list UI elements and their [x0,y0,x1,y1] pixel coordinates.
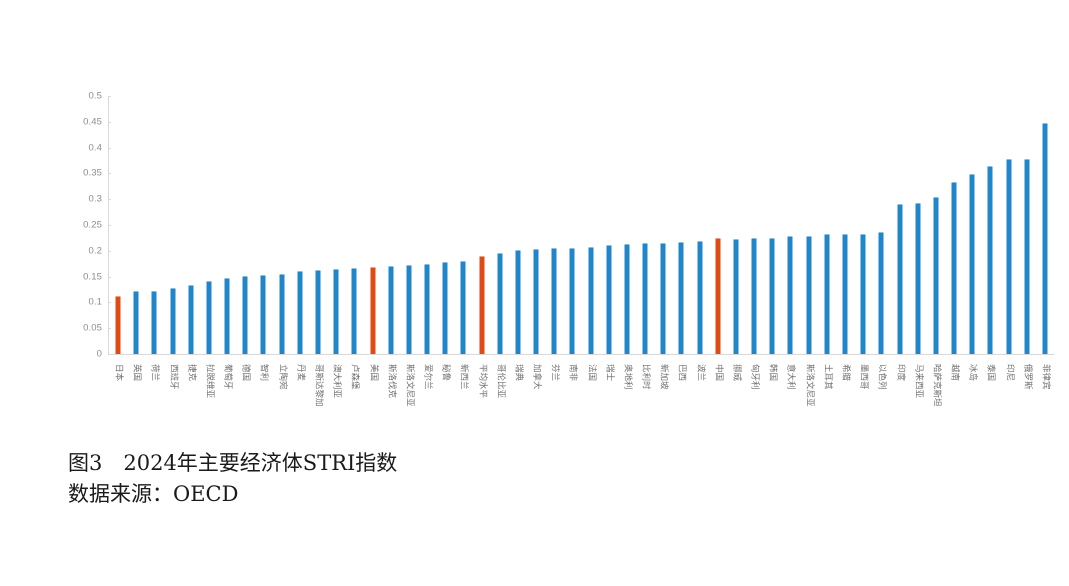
chart-bar[interactable] [406,265,411,354]
bar-slot [600,96,618,354]
chart-bar[interactable] [970,174,975,354]
chart-bar[interactable] [1042,123,1047,354]
chart-bar[interactable] [624,244,629,354]
bar-slot [763,96,781,354]
x-tick-label: 比利时 [641,364,650,390]
bar-slot [472,96,490,354]
chart-bar[interactable] [225,278,230,354]
bar-slot [363,96,381,354]
x-tick-label: 俄罗斯 [1022,364,1031,390]
chart-bar[interactable] [261,275,266,354]
x-tick-label: 英国 [132,364,141,381]
bar-slot [781,96,799,354]
chart-bar[interactable] [588,247,593,354]
x-tick-label: 以色列 [877,364,886,390]
bar-slot [327,96,345,354]
x-tick-label: 土耳其 [822,364,831,390]
chart-bar[interactable] [370,267,375,354]
chart-bar[interactable] [352,268,357,354]
x-tick-label: 挪威 [731,364,740,381]
y-tick-mark [108,277,111,278]
x-tick-label: 荷兰 [150,364,159,381]
chart-bar[interactable] [315,270,320,354]
chart-bar[interactable] [952,182,957,354]
x-tick-label: 匈牙利 [750,364,759,390]
chart-bar[interactable] [643,243,648,354]
bar-slot [382,96,400,354]
y-tick-mark [108,328,111,329]
x-tick-label: 哥斯达黎加 [313,364,322,407]
chart-bar[interactable] [279,274,284,354]
chart-bar[interactable] [152,291,157,354]
y-tick-label: 0.45 [68,117,102,127]
x-tick-label: 波兰 [695,364,704,381]
x-tick-label: 立陶宛 [277,364,286,390]
x-tick-label: 新加坡 [659,364,668,390]
x-tick-label: 芬兰 [550,364,559,381]
y-tick-mark [108,251,111,252]
x-tick-label: 印尼 [1004,364,1013,381]
bar-slot [654,96,672,354]
y-tick-label: 0 [68,349,102,359]
x-tick-label: 葡萄牙 [223,364,232,390]
chart-bar[interactable] [515,250,520,354]
chart-bar[interactable] [788,236,793,354]
chart-bar[interactable] [933,197,938,354]
chart-bar[interactable] [116,296,121,354]
x-tick-label: 瑞典 [513,364,522,381]
x-axis-category-labels: 日本英国荷兰西班牙捷克拉脱维亚葡萄牙德国智利立陶宛丹麦哥斯达黎加澳大利亚卢森堡美… [109,364,1054,444]
bar-slot [182,96,200,354]
bar-slot [582,96,600,354]
bar-slot [818,96,836,354]
x-tick-label: 瑞士 [604,364,613,381]
chart-bar[interactable] [770,238,775,354]
bar-slot [109,96,127,354]
bar-slot [273,96,291,354]
y-tick-mark [108,96,111,97]
y-axis: 0.50.450.40.350.30.250.20.150.10.050 [68,96,102,354]
chart-bar[interactable] [134,291,139,354]
x-tick-label: 卢森堡 [350,364,359,390]
bar-slot [527,96,545,354]
caption-source: 数据来源：OECD [68,479,968,510]
chart-bar[interactable] [497,253,502,354]
x-tick-label: 美国 [368,364,377,381]
chart-bar[interactable] [552,248,557,354]
bar-slot [400,96,418,354]
x-tick-label: 爱尔兰 [423,364,432,390]
chart-bar[interactable] [915,203,920,354]
x-tick-label: 越南 [950,364,959,381]
y-tick-label: 0.35 [68,169,102,179]
x-tick-label: 加拿大 [532,364,541,390]
x-tick-label: 冰岛 [968,364,977,381]
x-tick-label: 南非 [568,364,577,381]
bar-slot [709,96,727,354]
bar-slot [800,96,818,354]
bar-slot [890,96,908,354]
bar-slot [927,96,945,354]
chart-bar[interactable] [806,236,811,354]
x-tick-label: 法国 [586,364,595,381]
bar-slot [999,96,1017,354]
bar-slot [236,96,254,354]
bar-slot [454,96,472,354]
chart-bar[interactable] [479,256,484,354]
bar-slot [200,96,218,354]
chart-bar[interactable] [861,234,866,354]
x-tick-label: 希腊 [841,364,850,381]
chart-bar[interactable] [334,269,339,354]
x-tick-label: 捷克 [186,364,195,381]
bar-slot [672,96,690,354]
chart-bar[interactable] [388,266,393,354]
x-tick-label: 泰国 [986,364,995,381]
chart-bar[interactable] [297,271,302,354]
bar-slot [981,96,999,354]
y-tick-label: 0.1 [68,298,102,308]
x-tick-label: 智利 [259,364,268,381]
x-tick-label: 韩国 [768,364,777,381]
y-tick-label: 0.3 [68,194,102,204]
x-tick-label: 澳大利亚 [332,364,341,398]
bar-slot [164,96,182,354]
chart-bar[interactable] [752,238,757,354]
y-tick-mark [108,173,111,174]
bar-slot [436,96,454,354]
chart-bar[interactable] [988,166,993,354]
x-tick-label: 丹麦 [295,364,304,381]
bar-slot [309,96,327,354]
x-tick-label: 马来西亚 [913,364,922,398]
chart-bar[interactable] [697,241,702,354]
chart-bar[interactable] [606,245,611,354]
x-tick-label: 菲律宾 [1040,364,1049,390]
chart-bar[interactable] [824,234,829,354]
x-tick-label: 哥伦比亚 [495,364,504,398]
y-tick-mark [108,122,111,123]
y-tick-mark [108,148,111,149]
x-tick-label: 西班牙 [168,364,177,390]
chart-plot-area: 0.50.450.40.350.30.250.20.150.10.050 [68,96,1054,362]
x-tick-label: 德国 [241,364,250,381]
x-tick-label: 奥地利 [622,364,631,390]
chart-bar[interactable] [897,204,902,354]
y-tick-mark [108,302,111,303]
x-tick-label: 意大利 [786,364,795,390]
bar-slot [745,96,763,354]
x-tick-label: 斯洛文尼亚 [804,364,813,407]
figure-caption: 图3 2024年主要经济体STRI指数 数据来源：OECD [68,448,968,510]
bar-slot [218,96,236,354]
y-tick-label: 0.15 [68,272,102,282]
x-tick-label: 巴西 [677,364,686,381]
chart-bar[interactable] [534,249,539,354]
bar-slot [636,96,654,354]
bar-slot [1018,96,1036,354]
chart-bar[interactable] [170,288,175,354]
bar-slot [127,96,145,354]
x-tick-label: 墨西哥 [859,364,868,390]
y-tick-label: 0.25 [68,220,102,230]
chart-bar[interactable] [425,264,430,354]
x-tick-label: 平均水平 [477,364,486,398]
y-tick-label: 0.5 [68,91,102,101]
bar-slot [254,96,272,354]
figure-container: 0.50.450.40.350.30.250.20.150.10.050 日本英… [0,0,1069,586]
bar-slot [963,96,981,354]
bar-slot [836,96,854,354]
bar-slot [418,96,436,354]
bar-slot [872,96,890,354]
y-tick-mark [108,354,111,355]
chart-bar[interactable] [661,243,666,354]
x-tick-label: 斯洛伐克 [386,364,395,398]
bar-slot [909,96,927,354]
bar-slot [691,96,709,354]
bar-slot [509,96,527,354]
bar-slot [345,96,363,354]
caption-title: 图3 2024年主要经济体STRI指数 [68,448,968,479]
bar-slot [545,96,563,354]
bar-slot [727,96,745,354]
chart-bar[interactable] [461,261,466,354]
chart-bar[interactable] [570,248,575,354]
x-axis-line [108,354,1054,355]
x-tick-label: 哈萨克斯坦 [931,364,940,407]
chart-bar[interactable] [1024,159,1029,354]
chart-bar[interactable] [206,281,211,354]
bar-slot [291,96,309,354]
chart-bar[interactable] [443,262,448,354]
bar-slot [618,96,636,354]
chart-bar[interactable] [733,239,738,354]
chart-bar[interactable] [1006,159,1011,354]
y-tick-label: 0.4 [68,143,102,153]
bar-slot [491,96,509,354]
chart-bar[interactable] [879,232,884,354]
y-tick-label: 0.05 [68,323,102,333]
x-tick-label: 日本 [114,364,123,381]
x-tick-label: 拉脱维亚 [204,364,213,398]
bar-slot [854,96,872,354]
x-tick-label: 印度 [895,364,904,381]
bar-slot [1036,96,1054,354]
bar-slot [945,96,963,354]
chart-bar[interactable] [243,276,248,354]
chart-bar[interactable] [843,234,848,354]
bar-slot [145,96,163,354]
y-tick-label: 0.2 [68,246,102,256]
y-tick-mark [108,199,111,200]
bar-slot [563,96,581,354]
chart-bar[interactable] [715,238,720,354]
x-tick-label: 新西兰 [459,364,468,390]
x-tick-label: 斯洛文尼亚 [404,364,413,407]
y-tick-mark [108,225,111,226]
chart-bar[interactable] [679,242,684,354]
x-tick-label: 中国 [713,364,722,381]
bars-container [109,96,1054,354]
x-tick-label: 秘鲁 [441,364,450,381]
chart-bar[interactable] [188,285,193,354]
